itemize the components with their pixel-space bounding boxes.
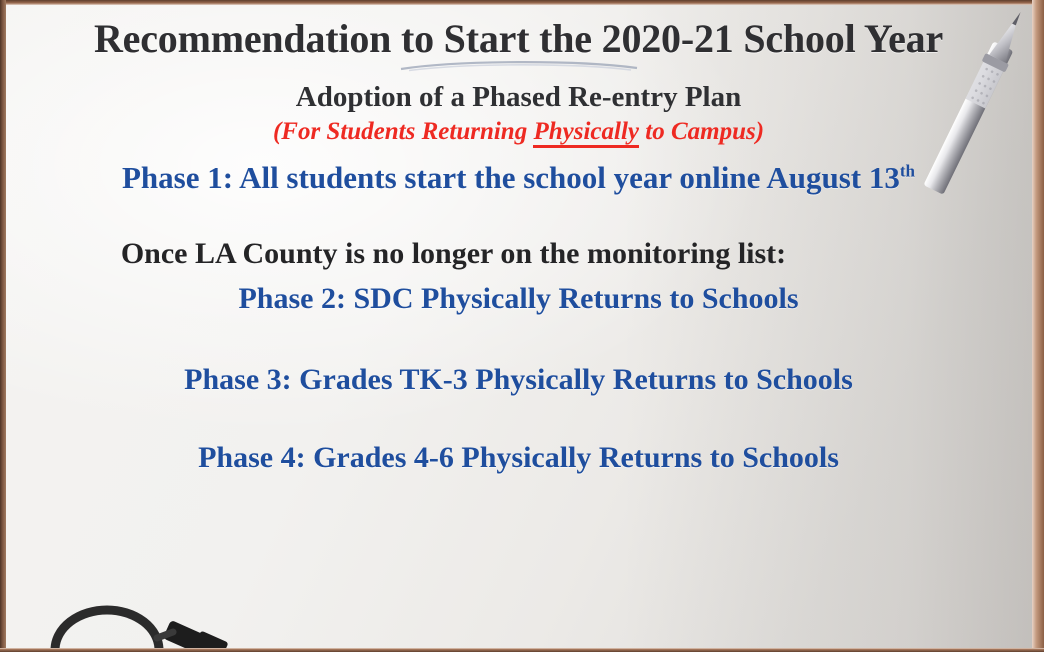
slide-subtitle-note: (For Students Returning Physically to Ca… <box>5 118 1032 146</box>
slide-paper-surface: Recommendation to Start the 2020-21 Scho… <box>5 4 1032 648</box>
slide-frame-left-edge <box>0 0 6 652</box>
presentation-slide: Recommendation to Start the 2020-21 Scho… <box>0 0 1044 652</box>
phase-4-line: Phase 4: Grades 4-6 Physically Returns t… <box>5 441 1032 474</box>
slide-frame-right-edge <box>1032 0 1044 652</box>
title-underline-container <box>5 58 1032 68</box>
phase-2-line: Phase 2: SDC Physically Returns to Schoo… <box>5 282 1032 315</box>
slide-subtitle: Adoption of a Phased Re-entry Plan <box>5 82 1032 114</box>
phase-3-line: Phase 3: Grades TK-3 Physically Returns … <box>5 363 1032 396</box>
slide-frame-bottom-edge <box>0 648 1044 652</box>
slide-title: Recommendation to Start the 2020-21 Scho… <box>5 4 1032 62</box>
phase-1-date-ordinal: th <box>900 162 915 181</box>
phase-1-line: Phase 1: All students start the school y… <box>5 161 1032 195</box>
subtitle-note-emphasis: Physically <box>533 118 639 148</box>
subtitle-note-prefix: (For Students Returning <box>273 118 534 145</box>
subtitle-note-suffix: to Campus) <box>639 118 764 145</box>
slide-content: Recommendation to Start the 2020-21 Scho… <box>5 4 1032 648</box>
title-underline-swoosh-icon <box>399 58 639 72</box>
phase-1-text: Phase 1: All students start the school y… <box>122 160 900 195</box>
monitoring-list-condition: Once LA County is no longer on the monit… <box>5 237 1032 270</box>
slide-frame-top-edge <box>0 0 1044 5</box>
